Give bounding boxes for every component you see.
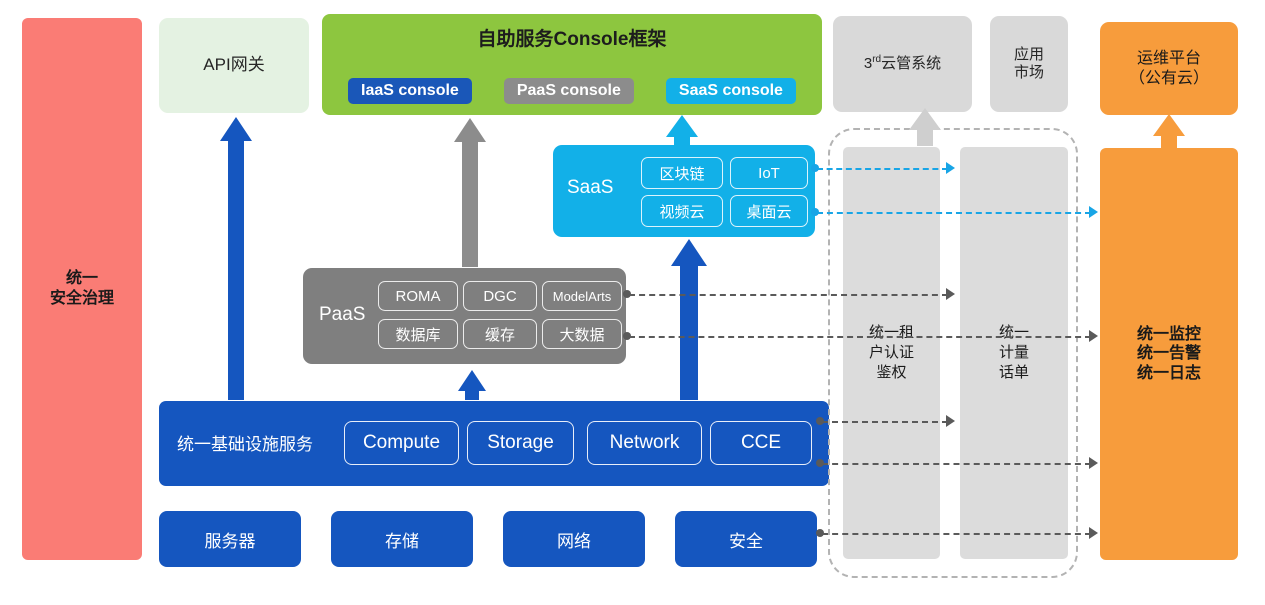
paas-layer-label: PaaS [319, 304, 365, 326]
arrow-up-to-ops-platform [1153, 114, 1185, 150]
app-market-box[interactable]: 应用 市场 [990, 16, 1068, 112]
ops-platform-line2: （公有云） [1129, 69, 1209, 89]
iaas-console-chip[interactable]: IaaS console [348, 78, 472, 104]
infra-item-network[interactable]: Network [587, 421, 702, 465]
hardware-item-storage[interactable]: 存储 [331, 511, 473, 567]
arrow-up-to-paas-console [454, 118, 486, 267]
connector-line-infra-ops [822, 463, 1091, 465]
connector-line-saas-ops [817, 212, 1091, 214]
ops-platform-public-cloud-box[interactable]: 运维平台 （公有云） [1100, 22, 1238, 115]
architecture-diagram: 统一 安全治理 API网关 自助服务Console框架 IaaS console… [0, 0, 1265, 605]
arrow-up-to-saas-console [666, 115, 698, 146]
hardware-item-security[interactable]: 安全 [675, 511, 817, 567]
connector-line-saas-auth [817, 168, 948, 170]
unified-infrastructure-service-bar: 统一基础设施服务 Compute Storage Network CCE [159, 401, 829, 486]
auth-line3: 鉴权 [869, 363, 914, 383]
api-gateway-box[interactable]: API网关 [159, 18, 309, 113]
arrow-up-infra-to-paas [458, 370, 486, 400]
ops-monitoring-panel: 统一监控 统一告警 统一日志 [1100, 148, 1238, 560]
saas-item-iot[interactable]: IoT [730, 157, 808, 189]
auth-line2: 户认证 [869, 343, 914, 363]
connector-line-paas-ops [629, 336, 1091, 338]
infra-item-cce[interactable]: CCE [710, 421, 812, 465]
saas-item-desktop-cloud[interactable]: 桌面云 [730, 195, 808, 227]
paas-item-cache[interactable]: 缓存 [463, 319, 537, 349]
security-panel-line1: 统一 [50, 269, 114, 289]
third-party-suffix: 云管系统 [881, 55, 941, 72]
ops-platform-line1: 运维平台 [1129, 49, 1209, 69]
saas-layer-label: SaaS [567, 177, 613, 199]
hardware-storage-label: 存储 [385, 527, 419, 552]
unified-tenant-auth-column: 统一租 户认证 鉴权 [843, 147, 940, 559]
hardware-security-label: 安全 [729, 527, 763, 552]
paas-item-bigdata[interactable]: 大数据 [542, 319, 622, 349]
auth-line1: 统一租 [869, 323, 914, 343]
hardware-item-network[interactable]: 网络 [503, 511, 645, 567]
infra-item-compute[interactable]: Compute [344, 421, 459, 465]
connector-arrowhead-infra-auth [946, 415, 955, 427]
connector-line-hardware-ops [822, 533, 1091, 535]
paas-item-dgc[interactable]: DGC [463, 281, 537, 311]
infra-item-storage[interactable]: Storage [467, 421, 574, 465]
app-market-line1: 应用 [1014, 46, 1044, 64]
third-party-cloud-mgmt-box[interactable]: 3rd云管系统 [833, 16, 972, 112]
meter-line1: 统一 [999, 323, 1029, 343]
third-party-prefix: 3 [864, 55, 872, 72]
connector-arrowhead-paas-ops [1089, 330, 1098, 342]
self-service-console-framework: 自助服务Console框架 IaaS console PaaS console … [322, 14, 822, 115]
saas-console-chip[interactable]: SaaS console [666, 78, 796, 104]
paas-console-chip[interactable]: PaaS console [504, 78, 634, 104]
unified-security-governance-panel: 统一 安全治理 [22, 18, 142, 560]
infrastructure-label: 统一基础设施服务 [177, 430, 313, 455]
saas-item-blockchain[interactable]: 区块链 [641, 157, 723, 189]
connector-line-infra-auth [822, 421, 948, 423]
ops-panel-line3: 统一日志 [1137, 364, 1201, 384]
unified-metering-billing-column: 统一 计量 话单 [960, 147, 1068, 559]
connector-arrowhead-infra-ops [1089, 457, 1098, 469]
api-gateway-label: API网关 [203, 55, 264, 76]
paas-item-database[interactable]: 数据库 [378, 319, 458, 349]
paas-item-roma[interactable]: ROMA [378, 281, 458, 311]
paas-layer-box: PaaS ROMA DGC ModelArts 数据库 缓存 大数据 [303, 268, 626, 364]
saas-layer-box: SaaS 区块链 IoT 视频云 桌面云 [553, 145, 815, 237]
app-market-line2: 市场 [1014, 64, 1044, 82]
console-chip-row: IaaS console PaaS console SaaS console [322, 78, 822, 104]
console-framework-title: 自助服务Console框架 [322, 24, 822, 51]
hardware-server-label: 服务器 [205, 527, 256, 552]
meter-line2: 计量 [999, 343, 1029, 363]
connector-arrowhead-paas-auth [946, 288, 955, 300]
saas-item-video-cloud[interactable]: 视频云 [641, 195, 723, 227]
connector-arrowhead-saas-ops [1089, 206, 1098, 218]
security-panel-line2: 安全治理 [50, 289, 114, 309]
paas-item-modelarts[interactable]: ModelArts [542, 281, 622, 311]
arrow-up-infra-to-saas [671, 239, 707, 400]
arrow-up-to-api-gateway [220, 117, 252, 400]
third-party-cloud-label: 3rd云管系统 [864, 54, 941, 73]
meter-line3: 话单 [999, 363, 1029, 383]
ops-panel-line1: 统一监控 [1137, 325, 1201, 345]
connector-arrowhead-saas-auth [946, 162, 955, 174]
third-party-superscript: rd [872, 54, 881, 65]
connector-arrowhead-hardware-ops [1089, 527, 1098, 539]
connector-line-paas-auth [629, 294, 948, 296]
hardware-item-server[interactable]: 服务器 [159, 511, 301, 567]
hardware-network-label: 网络 [557, 527, 591, 552]
ops-panel-line2: 统一告警 [1137, 344, 1201, 364]
